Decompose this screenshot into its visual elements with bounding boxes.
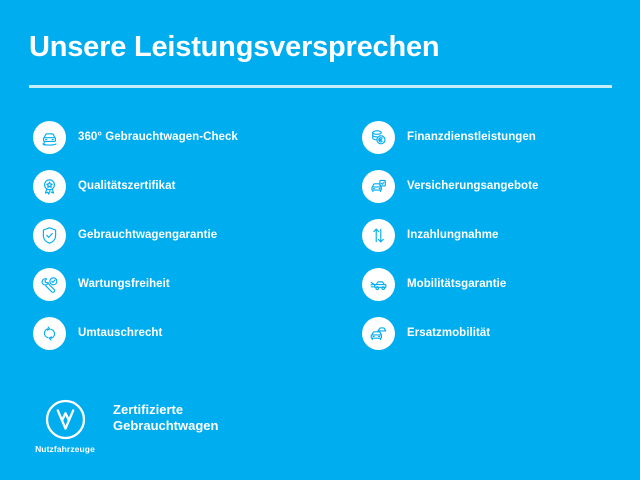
feature-label: Finanzdienstleistungen <box>407 121 536 154</box>
wrench-check-icon <box>33 268 66 301</box>
feature-label: Gebrauchtwagengarantie <box>78 219 217 252</box>
vw-roundel-logo <box>44 398 87 441</box>
brand-claim: Zertifizierte Gebrauchtwagen <box>113 402 218 434</box>
brand-block: Nutzfahrzeuge Zertifizierte Gebrauchtwag… <box>29 398 218 454</box>
feature-label: Versicherungsangebote <box>407 170 538 203</box>
feature-item-qualitaetszertifikat[interactable]: Qualitätszertifikat <box>33 170 333 219</box>
up-down-arrows-icon <box>362 219 395 252</box>
feature-item-gebrauchtwagengarantie[interactable]: Gebrauchtwagengarantie <box>33 219 333 268</box>
feature-label: Mobilitätsgarantie <box>407 268 506 301</box>
feature-item-ersatzmobilitaet[interactable]: Ersatzmobilität <box>362 317 632 366</box>
brand-claim-line-1: Zertifizierte <box>113 402 218 418</box>
feature-item-wartungsfreiheit[interactable]: Wartungsfreiheit <box>33 268 333 317</box>
slide-canvas: Unsere Leistungsversprechen 360° Gebrauc… <box>0 0 640 480</box>
feature-item-umtauschrecht[interactable]: Umtauschrecht <box>33 317 333 366</box>
brand-logo-subtitle: Nutzfahrzeuge <box>35 444 95 454</box>
two-cars-icon <box>362 317 395 350</box>
page-title: Unsere Leistungsversprechen <box>29 30 439 64</box>
feature-label: Umtauschrecht <box>78 317 162 350</box>
feature-label: Wartungsfreiheit <box>78 268 170 301</box>
car-insurance-document-icon <box>362 170 395 203</box>
feature-item-versicherungsangebote[interactable]: Versicherungsangebote <box>362 170 632 219</box>
feature-label: Qualitätszertifikat <box>78 170 175 203</box>
coins-euro-icon <box>362 121 395 154</box>
tow-truck-icon <box>362 268 395 301</box>
feature-label: Inzahlungnahme <box>407 219 498 252</box>
exchange-arrows-icon <box>33 317 66 350</box>
feature-item-inzahlungnahme[interactable]: Inzahlungnahme <box>362 219 632 268</box>
feature-item-gebrauchtwagen-check[interactable]: 360° Gebrauchtwagen-Check <box>33 121 333 170</box>
title-divider <box>29 85 612 88</box>
car-360-check-icon <box>33 121 66 154</box>
quality-rosette-icon <box>33 170 66 203</box>
features-right-column: Finanzdienstleistungen Versicherungsange… <box>362 121 632 366</box>
brand-logo-wrap: Nutzfahrzeuge <box>29 398 101 454</box>
shield-check-icon <box>33 219 66 252</box>
features-left-column: 360° Gebrauchtwagen-Check Qualitätszerti… <box>33 121 333 366</box>
feature-item-finanzdienstleistungen[interactable]: Finanzdienstleistungen <box>362 121 632 170</box>
brand-claim-line-2: Gebrauchtwagen <box>113 418 218 434</box>
feature-item-mobilitaetsgarantie[interactable]: Mobilitätsgarantie <box>362 268 632 317</box>
feature-label: 360° Gebrauchtwagen-Check <box>78 121 238 154</box>
feature-label: Ersatzmobilität <box>407 317 490 350</box>
